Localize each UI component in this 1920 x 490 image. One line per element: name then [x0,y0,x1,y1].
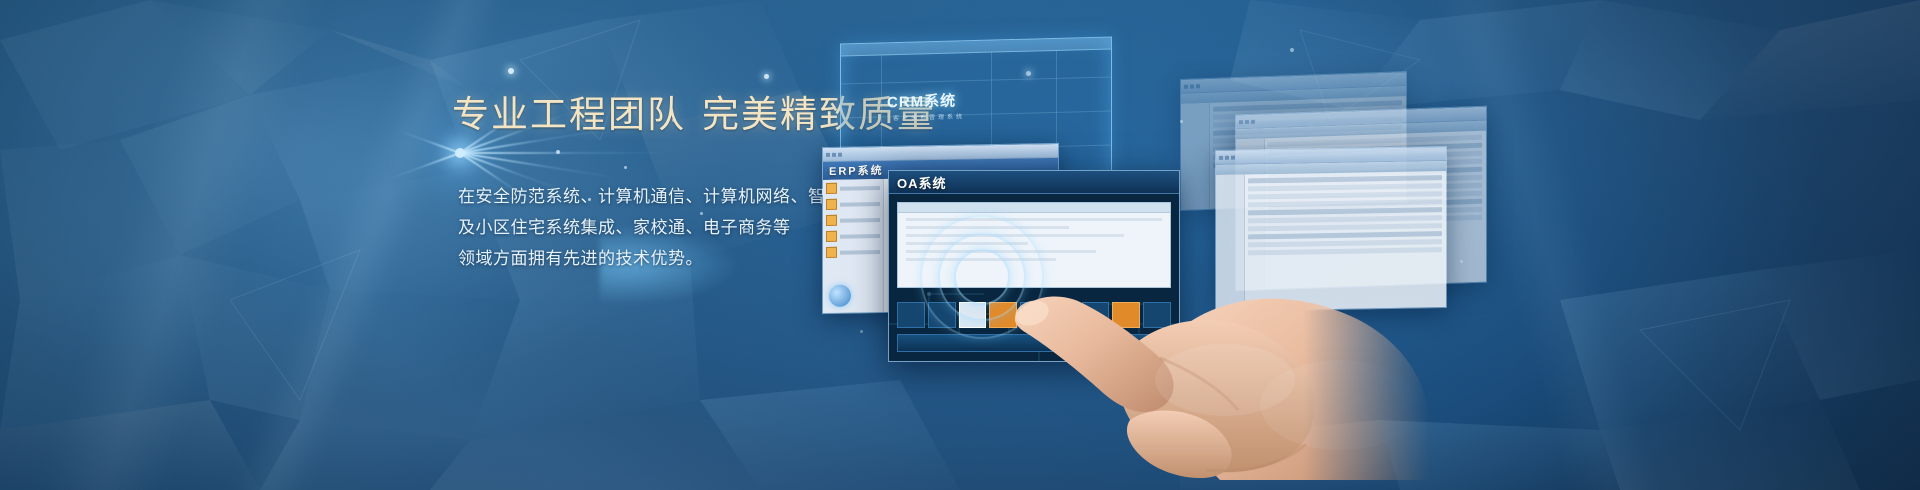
titlebar-dots-icon [1184,84,1200,89]
banner-headline: 专业工程团队完美精致质量 [452,96,872,137]
touch-ripple [954,249,1010,305]
bokeh-dot [508,68,514,74]
erp-menu-item [826,246,880,258]
titlebar-dots-icon [1219,155,1235,159]
titlebar-dots-icon [826,152,842,156]
erp-menu-item [826,198,880,210]
folder-icon [826,183,837,194]
erp-menu-item [826,214,880,226]
oa-header: OA系统 [889,171,1179,194]
erp-menu-item [826,182,880,194]
crm-title-label: CRM系统 [887,90,956,113]
oa-title-label: OA系统 [897,173,947,192]
pointing-hand-illustration [1010,230,1430,480]
folder-icon [826,231,837,242]
side-panel [1181,103,1210,211]
paragraph-line-1: 在安全防范系统、计算机通信、计算机网络、智能大厦 [458,181,872,212]
paragraph-line-3: 领域方面拥有先进的技术优势。 [458,243,872,274]
titlebar-dots-icon [1239,119,1255,124]
promo-banner: 专业工程团队完美精致质量 在安全防范系统、计算机通信、计算机网络、智能大厦 及小… [0,0,1920,490]
erp-title-label: ERP系统 [829,162,884,179]
folder-icon [826,215,837,226]
banner-copy: 专业工程团队完美精致质量 在安全防范系统、计算机通信、计算机网络、智能大厦 及小… [452,96,872,274]
headline-part-1: 专业工程团队 [452,95,686,136]
bokeh-dot [764,74,769,79]
folder-icon [826,199,837,210]
erp-menu-item [826,230,880,242]
banner-paragraph: 在安全防范系统、计算机通信、计算机网络、智能大厦 及小区住宅系统集成、家校通、电… [458,181,872,274]
document-header [898,203,1170,213]
crm-subtitle-label: 客户关系管理系统 [893,111,965,122]
paragraph-line-2: 及小区住宅系统集成、家校通、电子商务等 [458,212,872,243]
folder-icon [826,247,837,258]
